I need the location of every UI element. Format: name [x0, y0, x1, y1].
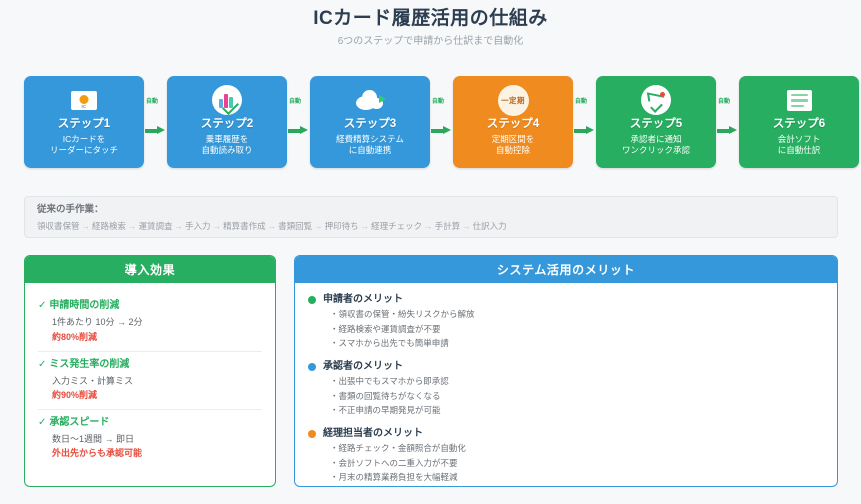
legacy-step: 経理チェック: [371, 221, 422, 231]
merit-group-title: 経理担当者のメリット: [323, 427, 423, 440]
merit-group-head: 承認者のメリット: [308, 360, 824, 373]
effect-title: ✓承認スピード: [38, 416, 262, 429]
arrow-4-to-5: 自動: [573, 76, 596, 168]
bottom-panels: 導入効果 ✓申請時間の削減 1件あたり 10分 → 2分 約80%削減 ✓ミス発…: [24, 255, 838, 487]
alert-dot-icon: [660, 92, 665, 97]
commuter-pass-icon: 一定期: [498, 85, 529, 116]
merit-list-item: ・出張中でもスマホから即承認: [330, 375, 824, 387]
legacy-step: 仕訳入力: [473, 221, 507, 231]
arrow-3-to-4: 自動: [430, 76, 453, 168]
effect-item: ✓ミス発生率の削減 入力ミス・計算ミス 約90%削減: [38, 352, 262, 410]
step-5-name: ステップ5: [630, 118, 682, 131]
effect-highlight: 約80%削減: [52, 331, 262, 343]
step-5-icon-wrap: [641, 83, 671, 117]
arrow-1-to-2: 自動: [144, 76, 167, 168]
effect-highlight: 約90%削減: [52, 389, 262, 401]
arrow-right-icon: [717, 126, 738, 135]
bullet-dot-icon: [308, 296, 316, 304]
legacy-step: 手入力: [185, 221, 211, 231]
legacy-separator: →: [266, 221, 279, 231]
effect-title: ✓ミス発生率の削減: [38, 358, 262, 371]
effect-detail: 1件あたり 10分 → 2分: [52, 316, 262, 328]
effect-title-text: 申請時間の削減: [49, 300, 119, 311]
merit-group: 経理担当者のメリット ・経路チェック・金額照合が自動化 ・会計ソフトへの二重入力…: [308, 427, 824, 483]
bar-chart-check-icon: [212, 85, 242, 115]
step-1-desc-line2: リーダーにタッチ: [50, 145, 118, 156]
effect-item: ✓申請時間の削減 1件あたり 10分 → 2分 約80%削減: [38, 293, 262, 351]
step-1-desc: ICカードを リーダーにタッチ: [50, 134, 118, 157]
step-5-desc-line1: 承認者に通知: [622, 134, 690, 145]
legacy-chain: 領収書保管→経路検索→運賃調査→手入力→精算書作成→書類回覧→押印待ち→経理チェ…: [37, 221, 825, 232]
ic-card-chip: [80, 95, 89, 104]
merit-list-item: ・経路検索や運賃調査が不要: [330, 323, 824, 335]
merit-list-item: ・月末の精算業務負担を大幅軽減: [330, 471, 824, 483]
ic-card-icon: IC: [71, 91, 97, 110]
bullet-dot-icon: [308, 430, 316, 438]
step-card-2[interactable]: ステップ2 乗車履歴を 自動読み取り: [167, 76, 287, 168]
merit-list-item: ・スマホから出先でも簡単申請: [330, 337, 824, 349]
merit-group-head: 経理担当者のメリット: [308, 427, 824, 440]
arrow-1-label: 自動: [146, 96, 160, 105]
step-card-4[interactable]: 一定期 ステップ4 定期区間を 自動控除: [453, 76, 573, 168]
cloud-arrow-icon: [379, 95, 386, 103]
effect-highlight: 外出先からも承認可能: [52, 447, 262, 459]
effect-item: ✓承認スピード 数日〜1週間 → 即日 外出先からも承認可能: [38, 410, 262, 467]
merit-group-title: 申請者のメリット: [323, 293, 403, 306]
notify-glyph: [647, 91, 666, 110]
legacy-step: 押印待ち: [325, 221, 359, 231]
step-2-icon-wrap: [212, 83, 242, 117]
arrow-2-to-3: 自動: [287, 76, 310, 168]
merits-panel-body: 申請者のメリット ・領収書の保管・紛失リスクから解放 ・経路検索や運賃調査が不要…: [295, 283, 837, 487]
step-4-name: ステップ4: [487, 118, 539, 131]
step-3-icon-wrap: [354, 83, 386, 117]
effects-panel-body: ✓申請時間の削減 1件あたり 10分 → 2分 約80%削減 ✓ミス発生率の削減…: [25, 283, 275, 486]
arrow-5-to-6: 自動: [716, 76, 739, 168]
page-header: ICカード履歴活用の仕組み 6つのステップで申請から仕訳まで自動化: [0, 0, 861, 48]
step-1-desc-line1: ICカードを: [50, 134, 118, 145]
merit-list-item: ・経路チェック・金額照合が自動化: [330, 442, 824, 454]
step-3-name: ステップ3: [344, 118, 396, 131]
merit-list-item: ・書類の回覧待ちがなくなる: [330, 390, 824, 402]
bar-chart-bars: [219, 93, 235, 108]
legacy-step: 経路検索: [92, 221, 126, 231]
arrow-3-label: 自動: [432, 96, 446, 105]
merits-panel-header: システム活用のメリット: [295, 256, 837, 283]
check-mark-icon: ✓: [38, 300, 46, 311]
legacy-separator: →: [80, 221, 93, 231]
effect-title-text: ミス発生率の削減: [49, 359, 129, 370]
step-5-desc-line2: ワンクリック承認: [622, 145, 690, 156]
legacy-separator: →: [126, 221, 139, 231]
merit-group-head: 申請者のメリット: [308, 293, 824, 306]
arrow-2-label: 自動: [289, 96, 303, 105]
step-6-desc: 会計ソフト に自動仕訳: [778, 134, 821, 157]
step-4-desc-line1: 定期区間を: [492, 134, 535, 145]
ic-card-label: IC: [71, 104, 97, 109]
merits-panel: システム活用のメリット 申請者のメリット ・領収書の保管・紛失リスクから解放 ・…: [294, 255, 838, 487]
check-mark-icon: ✓: [38, 359, 46, 370]
legacy-separator: →: [422, 221, 435, 231]
legacy-step: 手計算: [435, 221, 461, 231]
legacy-separator: →: [312, 221, 325, 231]
effect-title-text: 承認スピード: [49, 417, 109, 428]
check-mark-icon: ✓: [38, 417, 46, 428]
legacy-separator: →: [211, 221, 224, 231]
document-lines-icon: [787, 90, 812, 111]
effects-panel-header: 導入効果: [25, 256, 275, 283]
merit-list-item: ・会計ソフトへの二重入力が不要: [330, 457, 824, 469]
step-card-3[interactable]: ステップ3 経費精算システム に自動連携: [310, 76, 430, 168]
step-3-desc-line1: 経費精算システム: [336, 134, 404, 145]
step-2-desc-line1: 乗車履歴を: [201, 134, 252, 145]
legacy-separator: →: [173, 221, 186, 231]
step-3-desc-line2: に自動連携: [336, 145, 404, 156]
legacy-separator: →: [460, 221, 473, 231]
effects-panel: 導入効果 ✓申請時間の削減 1件あたり 10分 → 2分 約80%削減 ✓ミス発…: [24, 255, 276, 487]
notify-approve-icon: [641, 85, 671, 115]
arrow-5-label: 自動: [718, 96, 732, 105]
steps-flow: IC ステップ1 ICカードを リーダーにタッチ 自動: [24, 76, 861, 168]
effect-title: ✓申請時間の削減: [38, 299, 262, 312]
step-card-1[interactable]: IC ステップ1 ICカードを リーダーにタッチ: [24, 76, 144, 168]
page-title: ICカード履歴活用の仕組み: [0, 8, 861, 31]
legacy-step: 書類回覧: [278, 221, 312, 231]
step-3-desc: 経費精算システム に自動連携: [336, 134, 404, 157]
step-2-desc-line2: 自動読み取り: [201, 145, 252, 156]
step-card-6[interactable]: ステップ6 会計ソフト に自動仕訳: [739, 76, 859, 168]
legacy-step: 領収書保管: [37, 221, 80, 231]
page-subtitle: 6つのステップで申請から仕訳まで自動化: [0, 36, 861, 48]
legacy-separator: →: [359, 221, 372, 231]
step-4-desc-line2: 自動控除: [492, 145, 535, 156]
arrow-right-icon: [145, 126, 166, 135]
merit-group: 承認者のメリット ・出張中でもスマホから即承認 ・書類の回覧待ちがなくなる ・不…: [308, 360, 824, 416]
step-4-desc: 定期区間を 自動控除: [492, 134, 535, 157]
step-card-5[interactable]: ステップ5 承認者に通知 ワンクリック承認: [596, 76, 716, 168]
step-2-name: ステップ2: [201, 118, 253, 131]
bullet-dot-icon: [308, 363, 316, 371]
effect-detail: 入力ミス・計算ミス: [52, 375, 262, 387]
step-6-icon-wrap: [787, 83, 812, 117]
step-1-name: ステップ1: [58, 118, 110, 131]
arrow-right-icon: [288, 126, 309, 135]
step-6-name: ステップ6: [773, 118, 825, 131]
legacy-step: 精算書作成: [223, 221, 266, 231]
cloud-upload-icon: [354, 90, 386, 110]
effect-detail: 数日〜1週間 → 即日: [52, 433, 262, 445]
merit-list-item: ・領収書の保管・紛失リスクから解放: [330, 308, 824, 320]
arrow-right-icon: [431, 126, 452, 135]
legacy-workflow-box: 従来の手作業： 領収書保管→経路検索→運賃調査→手入力→精算書作成→書類回覧→押…: [24, 196, 838, 238]
step-5-desc: 承認者に通知 ワンクリック承認: [622, 134, 690, 157]
legacy-step: 運賃調査: [139, 221, 173, 231]
step-6-desc-line2: に自動仕訳: [778, 145, 821, 156]
arrow-4-label: 自動: [575, 96, 589, 105]
arrow-right-icon: [574, 126, 595, 135]
step-4-icon-wrap: 一定期: [498, 83, 529, 117]
infographic-page: ICカード履歴活用の仕組み 6つのステップで申請から仕訳まで自動化 IC ステッ…: [0, 0, 861, 504]
merit-group-title: 承認者のメリット: [323, 360, 403, 373]
step-2-desc: 乗車履歴を 自動読み取り: [201, 134, 252, 157]
step-1-icon-wrap: IC: [71, 83, 97, 117]
merit-list-item: ・不正申請の早期発見が可能: [330, 404, 824, 416]
legacy-title: 従来の手作業：: [37, 204, 825, 216]
merit-group: 申請者のメリット ・領収書の保管・紛失リスクから解放 ・経路検索や運賃調査が不要…: [308, 293, 824, 349]
step-6-desc-line1: 会計ソフト: [778, 134, 821, 145]
